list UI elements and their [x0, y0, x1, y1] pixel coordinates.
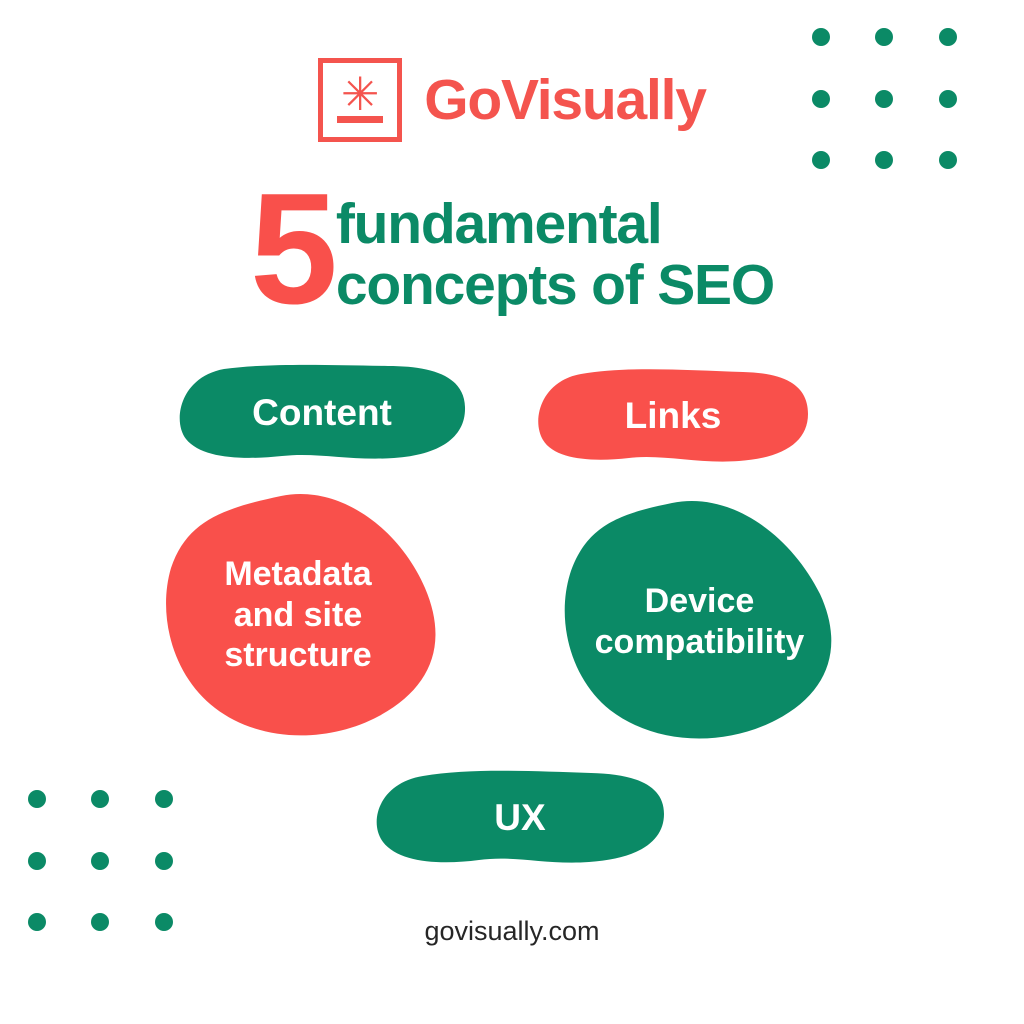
decorative-dot — [875, 28, 893, 46]
concept-label-metadata: Metadata and site structure — [224, 554, 371, 676]
dot-grid-bottom-left — [28, 790, 218, 975]
headline: 5 fundamental concepts of SEO — [0, 186, 1024, 316]
decorative-dot — [91, 790, 109, 808]
concept-blob-links[interactable]: Links — [537, 368, 809, 464]
decorative-dot — [91, 852, 109, 870]
headline-inner: 5 fundamental concepts of SEO — [250, 186, 774, 316]
concept-label-content: Content — [252, 391, 392, 435]
footer-url[interactable]: govisually.com — [0, 916, 1024, 947]
decorative-dot — [812, 28, 830, 46]
concept-label-ux: UX — [494, 796, 545, 840]
brand-name: GoVisually — [424, 72, 706, 129]
decorative-dot — [939, 151, 957, 169]
brand-header: ✳ GoVisually — [0, 58, 1024, 142]
decorative-dot — [875, 151, 893, 169]
headline-line-2: concepts of SEO — [336, 255, 774, 316]
decorative-dot — [28, 852, 46, 870]
decorative-dot — [155, 852, 173, 870]
asterisk-icon: ✳ — [323, 71, 397, 117]
decorative-dot — [155, 790, 173, 808]
headline-line-1: fundamental — [336, 194, 774, 255]
headline-text: fundamental concepts of SEO — [336, 194, 774, 316]
concept-blob-device[interactable]: Device compatibility — [562, 500, 837, 740]
concept-blob-content[interactable]: Content — [178, 363, 466, 463]
concept-blob-ux[interactable]: UX — [375, 770, 665, 866]
decorative-dot — [28, 790, 46, 808]
concept-blob-metadata[interactable]: Metadata and site structure — [163, 492, 439, 738]
govisually-logo-icon: ✳ — [318, 58, 402, 142]
concept-label-links: Links — [625, 394, 722, 438]
decorative-dot — [812, 151, 830, 169]
decorative-dot — [939, 28, 957, 46]
logo-underline-bar — [337, 116, 383, 123]
headline-number: 5 — [250, 188, 332, 311]
concept-label-device: Device compatibility — [595, 581, 805, 663]
infographic-canvas: ✳ GoVisually 5 fundamental concepts of S… — [0, 0, 1024, 1024]
